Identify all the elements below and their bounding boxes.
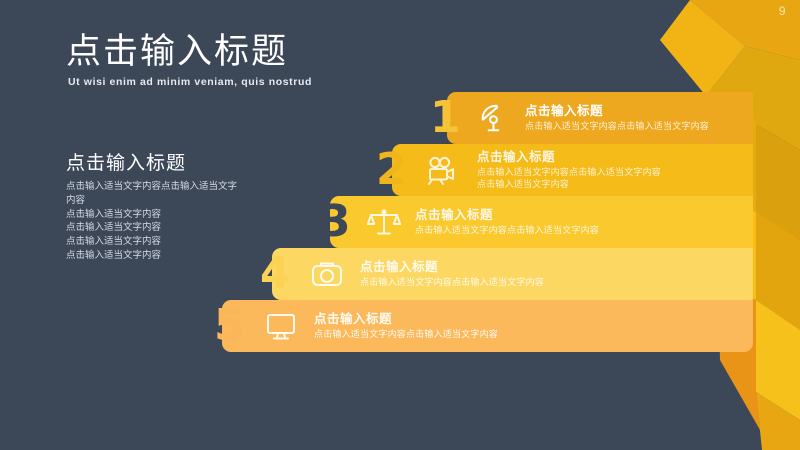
row-text: 点击输入标题 点击输入适当文字内容点击输入适当文字内容 点击输入适当文字内容 <box>477 150 661 190</box>
pyramid-row-1[interactable]: 1 点击输入标题 点击输入适当文字内容点击输入适当文字内容 <box>447 92 753 144</box>
row-title: 点击输入标题 <box>415 208 599 224</box>
page-subtitle: Ut wisi enim ad minim veniam, quis nostr… <box>68 76 312 88</box>
pyramid-row-4[interactable]: 4 点击输入标题 点击输入适当文字内容点击输入适当文字内容 <box>272 248 753 300</box>
row-title: 点击输入标题 <box>314 312 498 328</box>
row-desc: 点击输入适当文字内容点击输入适当文字内容 <box>415 224 599 236</box>
row-desc: 点击输入适当文字内容点击输入适当文字内容 <box>525 120 709 132</box>
row-desc: 点击输入适当文字内容点击输入适当文字内容 <box>314 328 498 340</box>
row-desc-2: 点击输入适当文字内容 <box>477 178 661 190</box>
pyramid-row-3[interactable]: 3 点击输入标题 点击输入适当文字内容点击输入适当文字内容 <box>330 196 753 248</box>
deco-shape-right-f <box>756 300 800 420</box>
page-title: 点击输入标题 <box>66 34 288 71</box>
row-number: 5 <box>214 304 245 348</box>
camera-icon <box>310 257 344 291</box>
pyramid-row-2[interactable]: 2 点击输入标题 点击输入适当文字内容点击输入适当文字内容 点击输入适当文字内容 <box>392 144 753 196</box>
deco-shape-top-c <box>660 0 745 96</box>
deco-shape-right-h <box>756 392 800 450</box>
left-body-line: 点击输入适当文字内容 <box>66 208 244 222</box>
row-number: 4 <box>260 252 291 296</box>
page-number: 9 <box>779 4 786 18</box>
row-title: 点击输入标题 <box>477 150 661 166</box>
row-text: 点击输入标题 点击输入适当文字内容点击输入适当文字内容 <box>415 208 599 236</box>
slide-canvas: 9 点击输入标题 Ut wisi enim ad minim veniam, q… <box>0 0 800 450</box>
row-title: 点击输入标题 <box>360 260 544 276</box>
satellite-dish-icon <box>477 101 511 135</box>
row-number: 2 <box>376 148 407 192</box>
left-body-line: 点击输入适当文字内容 <box>66 221 244 235</box>
left-section-heading: 点击输入标题 <box>66 148 186 175</box>
row-desc: 点击输入适当文字内容点击输入适当文字内容 <box>360 276 544 288</box>
left-body-line: 点击输入适当文字内容 <box>66 235 244 249</box>
movie-camera-icon <box>425 153 459 187</box>
balance-scale-icon <box>367 205 401 239</box>
left-body-line: 点击输入适当文字内容 <box>66 249 244 263</box>
row-number: 3 <box>320 200 351 244</box>
row-text: 点击输入标题 点击输入适当文字内容点击输入适当文字内容 <box>314 312 498 340</box>
pyramid-row-5[interactable]: 5 点击输入标题 点击输入适当文字内容点击输入适当文字内容 <box>222 300 753 352</box>
row-text: 点击输入标题 点击输入适当文字内容点击输入适当文字内容 <box>525 104 709 132</box>
row-desc: 点击输入适当文字内容点击输入适当文字内容 <box>477 165 661 177</box>
deco-shape-right-e <box>756 212 800 330</box>
left-body-line: 点击输入适当文字内容点击输入适当文字内容 <box>66 180 244 208</box>
left-section-body: 点击输入适当文字内容点击输入适当文字内容 点击输入适当文字内容 点击输入适当文字… <box>66 180 244 263</box>
row-number: 1 <box>430 96 461 140</box>
row-text: 点击输入标题 点击输入适当文字内容点击输入适当文字内容 <box>360 260 544 288</box>
row-title: 点击输入标题 <box>525 104 709 120</box>
monitor-icon <box>264 309 298 343</box>
